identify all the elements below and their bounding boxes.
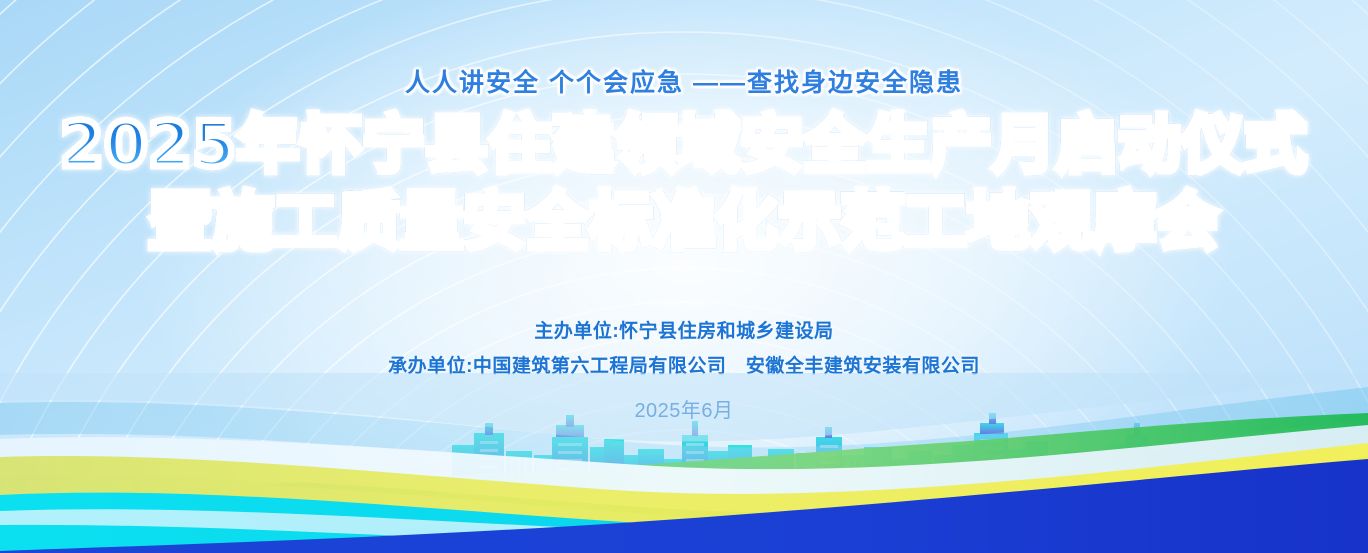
layered-wave-bands	[0, 373, 1368, 553]
banner-title-line-1: 2025年怀宁县住建领域安全生产月启动仪式	[0, 113, 1368, 177]
banner-title-line-2: 暨施工质量安全标准化示范工地观摩会	[0, 190, 1368, 254]
event-banner: 人人讲安全 个个会应急 ——查找身边安全隐患 2025年怀宁县住建领域安全生产月…	[0, 0, 1368, 553]
organizer-line: 主办单位:怀宁县住房和城乡建设局	[0, 316, 1368, 343]
banner-subtitle: 人人讲安全 个个会应急 ——查找身边安全隐患	[0, 63, 1368, 99]
